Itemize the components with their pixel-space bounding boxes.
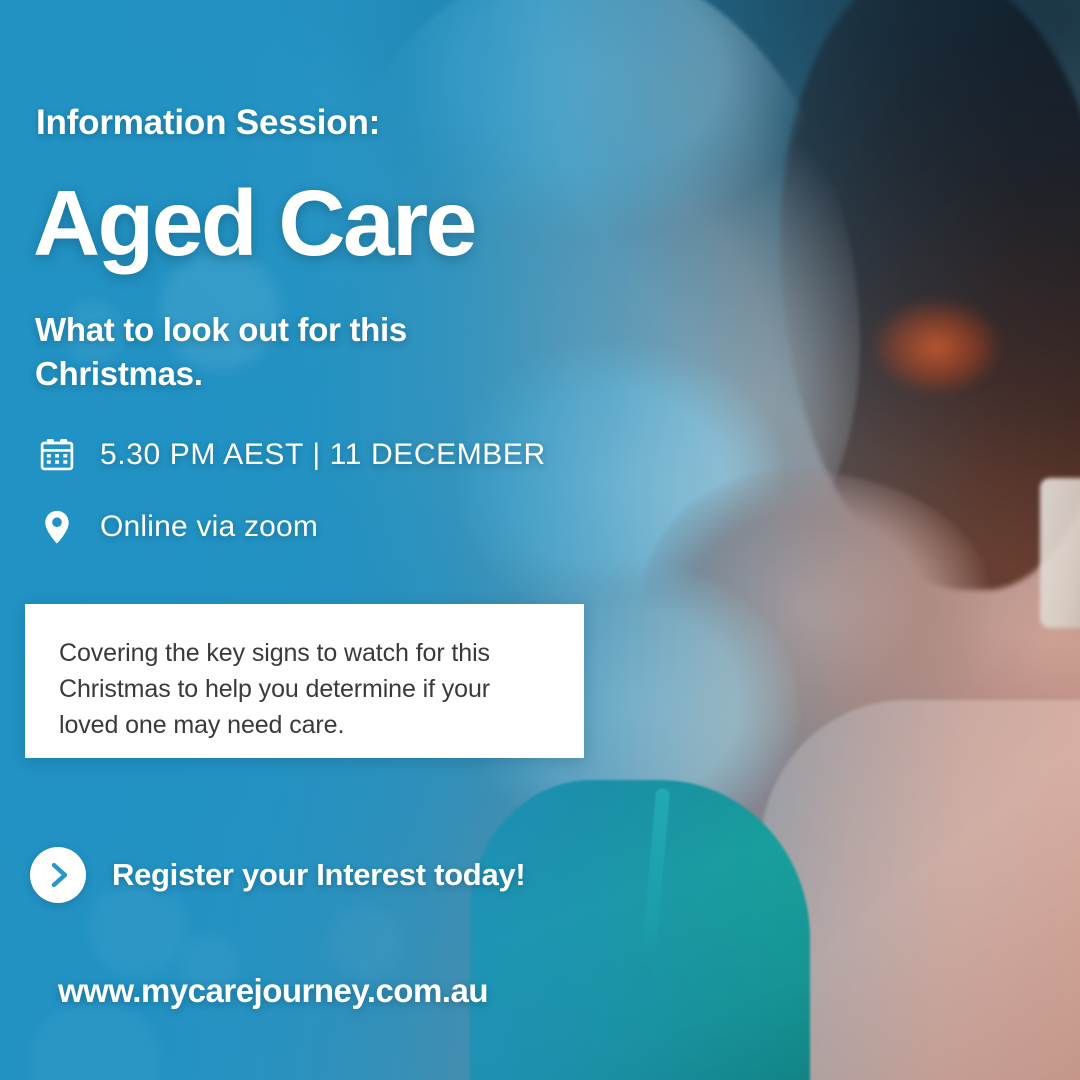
kicker-text: Information Session: (36, 103, 380, 143)
website-url[interactable]: www.mycarejourney.com.au (58, 972, 488, 1010)
event-datetime-text: 5.30 PM AEST | 11 DECEMBER (100, 438, 546, 472)
aged-care-information-session-poster: Information Session: Aged Care What to l… (0, 0, 1080, 1080)
register-interest-cta[interactable]: Register your Interest today! (30, 847, 525, 903)
calendar-icon (36, 436, 78, 474)
event-location-row: Online via zoom (36, 508, 318, 546)
poster-content: Information Session: Aged Care What to l… (0, 0, 1080, 1080)
description-panel: Covering the key signs to watch for this… (25, 604, 584, 758)
register-interest-label[interactable]: Register your Interest today! (112, 857, 525, 893)
chevron-right-circle-icon[interactable] (30, 847, 86, 903)
page-title: Aged Care (33, 178, 475, 269)
location-pin-icon (36, 508, 78, 546)
event-datetime-row: 5.30 PM AEST | 11 DECEMBER (36, 436, 546, 474)
description-text: Covering the key signs to watch for this… (25, 604, 584, 743)
subheading: What to look out for this Christmas. (35, 308, 505, 396)
event-location-text: Online via zoom (100, 510, 318, 544)
